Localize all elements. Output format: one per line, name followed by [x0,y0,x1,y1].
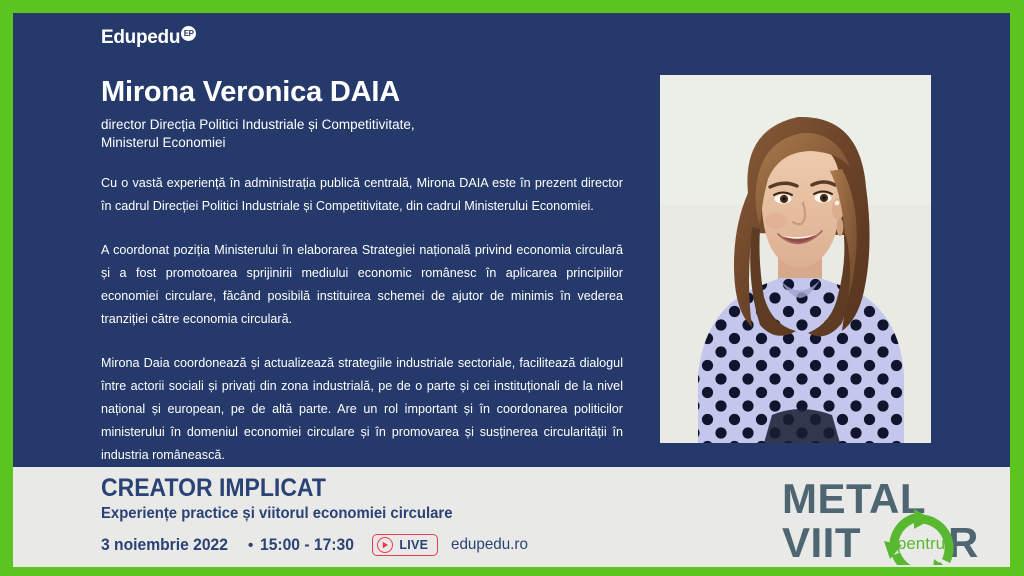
top-section: Edupedu EP Mirona Veronica DAIA director… [13,13,1010,467]
live-label: LIVE [399,539,428,552]
live-badge[interactable]: LIVE [372,534,438,556]
logo-metal-text: METAL [782,475,926,522]
event-meta-row: 3 noiembrie 2022 • 15:00 - 17:30 LIVE ed… [101,533,532,557]
event-website[interactable]: edupedu.ro [451,536,528,554]
speaker-role: director Direcția Politici Industriale ș… [101,116,647,152]
speaker-name: Mirona Veronica DAIA [101,75,647,109]
speaker-role-line-2: Ministerul Economiei [101,134,647,152]
bio-paragraph: Cu o vastă experiență în administrația p… [101,172,623,218]
event-title: CREATOR IMPLICAT [101,474,498,502]
speaker-bio: Cu o vastă experiență în administrația p… [101,172,647,467]
speaker-info-column: Edupedu EP Mirona Veronica DAIA director… [13,13,647,467]
logo-viitor-left-text: VIIT [782,519,861,565]
event-subtitle: Experiențe practice și viitorul economie… [101,504,515,524]
speaker-role-line-1: director Direcția Politici Industriale ș… [101,116,647,134]
edupedu-wordmark: Edupedu [101,27,180,49]
bio-paragraph: A coordonat poziția Ministerului în elab… [101,239,623,331]
event-details: CREATOR IMPLICAT Experiențe practice și … [13,467,532,557]
edupedu-badge-icon: EP [181,26,196,41]
edupedu-logo[interactable]: Edupedu EP [101,27,647,53]
metal-pentru-viitor-logo-image: METAL VIIT R pentru [780,473,980,565]
speaker-photo-image [660,75,931,443]
poster-frame: Edupedu EP Mirona Veronica DAIA director… [0,0,1024,576]
logo-pentru-text: pentru [897,534,945,553]
play-icon [377,537,393,553]
bio-paragraph: Mirona Daia coordonează și actualizează … [101,352,623,467]
meta-separator-dot: • [248,538,253,553]
event-date: 3 noiembrie 2022 [101,535,228,555]
poster-inner: Edupedu EP Mirona Veronica DAIA director… [13,13,1010,563]
event-time: 15:00 - 17:30 [260,535,354,555]
event-bar: CREATOR IMPLICAT Experiențe practice și … [13,467,1010,567]
speaker-photo [660,75,931,443]
metal-pentru-viitor-logo[interactable]: METAL VIIT R pentru [780,473,980,565]
